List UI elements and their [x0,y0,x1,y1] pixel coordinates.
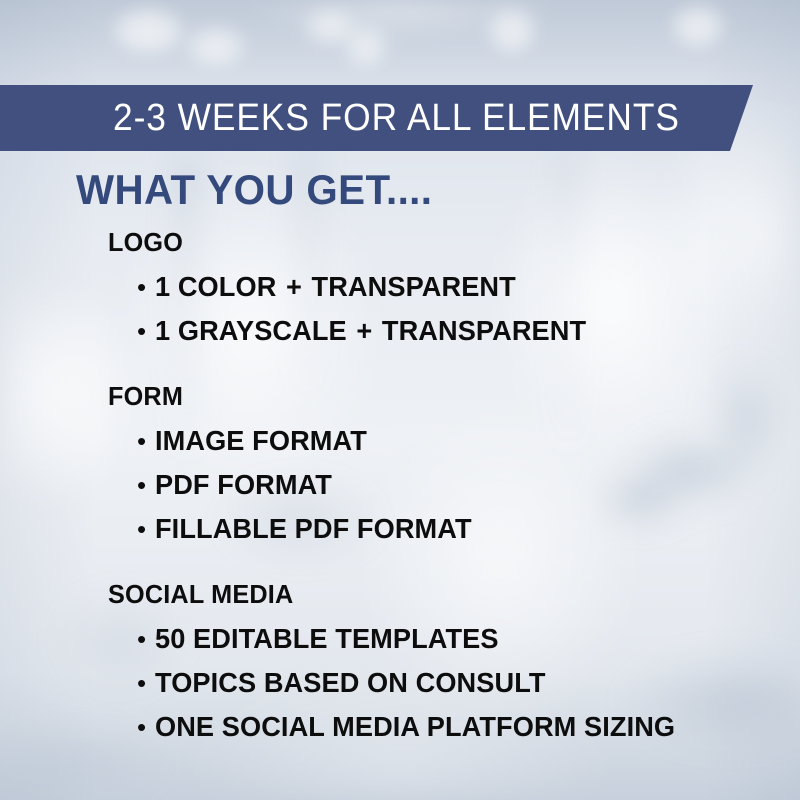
section-social-media: SOCIAL MEDIA • 50 EDITABLE TEMPLATES • T… [0,577,800,749]
bullet-dot-icon: • [137,705,155,749]
list-item: • TOPICS BASED ON CONSULT [137,661,800,705]
list-item-label: ONE SOCIAL MEDIA PLATFORM SIZING [155,705,675,749]
list-item: • 50 EDITABLE TEMPLATES [137,617,800,661]
bullet-dot-icon: • [137,309,155,353]
bullet-dot-icon: • [137,617,155,661]
bullet-dot-icon: • [137,661,155,705]
list-item-text-post: TRANSPARENT [374,315,586,346]
plus-sign-icon: + [354,315,374,346]
bullet-dot-icon: • [137,507,155,551]
list-item-label: 1 COLOR + TRANSPARENT [155,266,516,308]
section-form: FORM • IMAGE FORMAT • PDF FORMAT • FILLA… [0,379,800,551]
bullet-list: • 1 COLOR + TRANSPARENT • 1 GRAYSCALE + … [0,265,800,353]
page-title: WHAT YOU GET.... [76,166,432,214]
list-item-label: FILLABLE PDF FORMAT [155,507,472,551]
list-item-text-pre: 1 COLOR [155,271,284,302]
bullet-dot-icon: • [137,463,155,507]
bullet-dot-icon: • [137,265,155,309]
list-item-label: 1 GRAYSCALE + TRANSPARENT [155,310,586,352]
banner-title: 2-3 WEEKS FOR ALL ELEMENTS [113,85,680,151]
list-item: • 1 GRAYSCALE + TRANSPARENT [137,309,800,353]
bullet-list: • IMAGE FORMAT • PDF FORMAT • FILLABLE P… [0,419,800,551]
bullet-dot-icon: • [137,419,155,463]
plus-sign-icon: + [284,271,304,302]
section-title: LOGO [108,225,779,259]
list-item-label: PDF FORMAT [155,463,332,507]
list-item: • FILLABLE PDF FORMAT [137,507,800,551]
list-item-label: IMAGE FORMAT [155,419,367,463]
timeline-banner: 2-3 WEEKS FOR ALL ELEMENTS [0,85,760,151]
list-item: • 1 COLOR + TRANSPARENT [137,265,800,309]
section-title: SOCIAL MEDIA [108,577,779,611]
list-item-label: TOPICS BASED ON CONSULT [155,661,546,705]
section-title: FORM [108,379,779,413]
deliverables-list: LOGO • 1 COLOR + TRANSPARENT • 1 GRAYSCA… [0,225,800,771]
list-item-text-post: TRANSPARENT [304,271,516,302]
list-item: • ONE SOCIAL MEDIA PLATFORM SIZING [137,705,800,749]
bullet-list: • 50 EDITABLE TEMPLATES • TOPICS BASED O… [0,617,800,749]
poster-canvas: 2-3 WEEKS FOR ALL ELEMENTS WHAT YOU GET.… [0,0,800,800]
list-item: • PDF FORMAT [137,463,800,507]
list-item-label: 50 EDITABLE TEMPLATES [155,617,499,661]
list-item-text-pre: 1 GRAYSCALE [155,315,354,346]
list-item: • IMAGE FORMAT [137,419,800,463]
section-logo: LOGO • 1 COLOR + TRANSPARENT • 1 GRAYSCA… [0,225,800,353]
